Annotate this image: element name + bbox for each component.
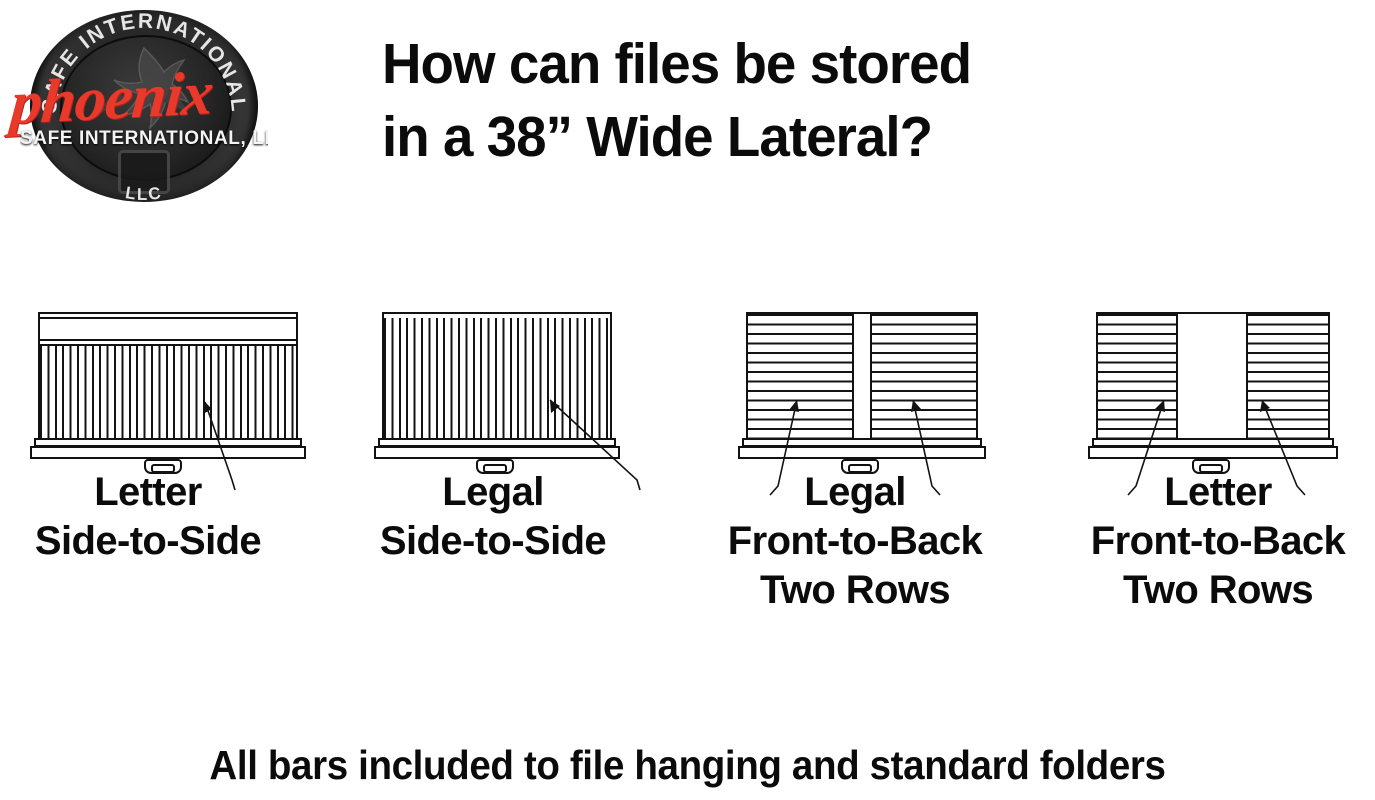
cabinet-diagram-letter-side-to-side [32,312,312,472]
caption-line-3: Two Rows [700,566,1010,615]
horizontal-file-dividers-row-2 [1248,314,1328,438]
plinth-base [30,446,306,459]
cabinet-body [382,312,612,440]
caption-line-3: Two Rows [1062,566,1374,615]
logo-subtitle: SAFE INTERNATIONAL, LLC [20,128,268,150]
infographic-page: SAFE INTERNATIONAL LLC phoenix SAFE INTE… [0,0,1375,800]
footer-note: All bars included to file hanging and st… [41,742,1334,789]
caption-line-1: Letter [1062,468,1374,517]
vertical-file-dividers [40,346,296,438]
center-divider [852,314,872,438]
caption-letter-side-to-side: Letter Side-to-Side [0,468,296,566]
top-rail-band [40,314,296,346]
caption-legal-side-to-side: Legal Side-to-Side [340,468,646,566]
cabinet-diagram-legal-side-to-side [376,312,624,472]
horizontal-file-dividers-row-1 [748,314,852,438]
page-title: How can files be stored in a 38” Wide La… [382,28,1112,174]
caption-line-2: Front-to-Back [700,517,1010,566]
caption-line-2: Front-to-Back [1062,517,1374,566]
plinth-base [374,446,620,459]
brand-logo: SAFE INTERNATIONAL LLC phoenix SAFE INTE… [12,8,267,204]
caption-line-1: Letter [0,468,296,517]
seal-arc-bottom-text: LLC [124,183,164,202]
plinth-base [1088,446,1338,459]
page-title-line-1: How can files be stored [382,28,1112,101]
horizontal-file-dividers-row-2 [872,314,976,438]
caption-letter-front-to-back-two-rows: Letter Front-to-Back Two Rows [1062,468,1374,614]
cabinet-diagram-legal-front-to-back-two-rows [740,312,990,472]
caption-line-1: Legal [340,468,646,517]
caption-legal-front-to-back-two-rows: Legal Front-to-Back Two Rows [700,468,1010,614]
plinth-base [738,446,986,459]
cabinet-body [746,312,978,440]
caption-line-1: Legal [700,468,1010,517]
page-title-line-2: in a 38” Wide Lateral? [382,101,1112,174]
center-gap-panel [1176,314,1248,438]
horizontal-file-dividers-row-1 [1098,314,1176,438]
cabinet-body [38,312,298,440]
vertical-file-dividers [384,318,610,438]
cabinet-diagram-letter-front-to-back-two-rows [1090,312,1342,472]
cabinet-body [1096,312,1330,440]
caption-line-2: Side-to-Side [0,517,296,566]
caption-line-2: Side-to-Side [340,517,646,566]
